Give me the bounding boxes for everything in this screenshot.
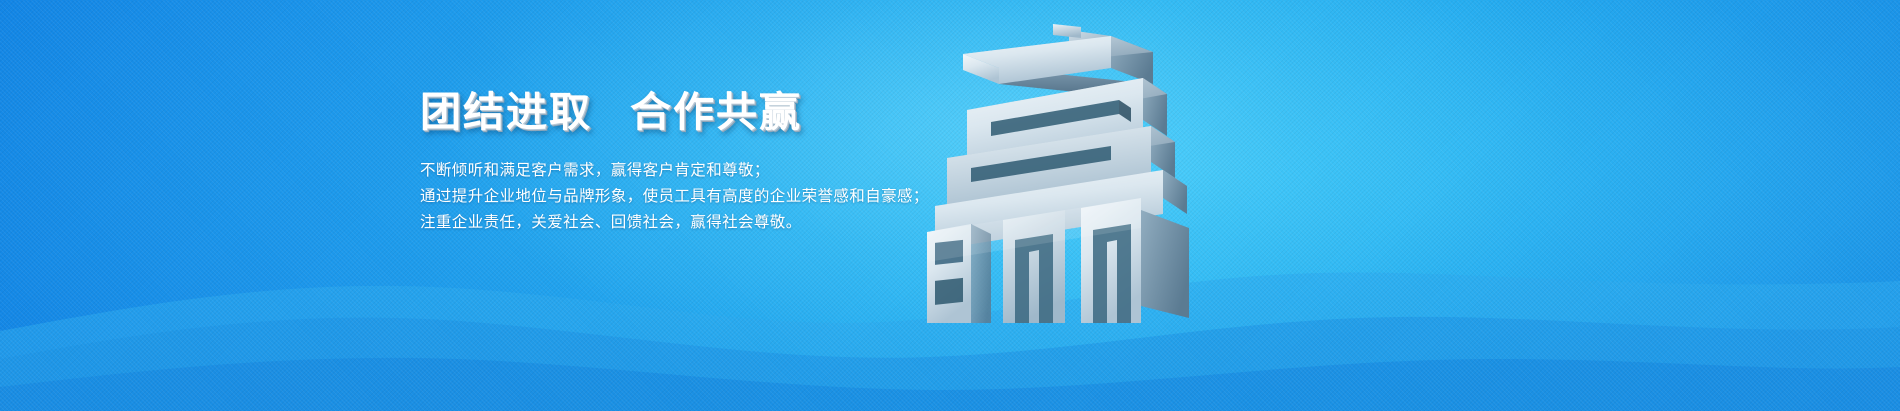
headline-left: 团结进取 [420, 92, 592, 133]
banner-sublines: 不断倾听和满足客户需求，赢得客户肯定和尊敬； 通过提升企业地位与品牌形象，使员工… [420, 158, 1040, 236]
banner-copy: 团结进取 合作共赢 不断倾听和满足客户需求，赢得客户肯定和尊敬； 通过提升企业地… [420, 92, 1040, 236]
subline-3: 注重企业责任，关爱社会、回馈社会，赢得社会尊敬。 [420, 210, 1040, 236]
banner-headline: 团结进取 合作共赢 [420, 92, 1040, 133]
subline-2: 通过提升企业地位与品牌形象，使员工具有高度的企业荣誉感和自豪感； [420, 184, 1040, 210]
headline-right: 合作共赢 [630, 92, 802, 133]
subline-1: 不断倾听和满足客户需求，赢得客户肯定和尊敬； [420, 158, 1040, 184]
promo-banner: 团结进取 合作共赢 不断倾听和满足客户需求，赢得客户肯定和尊敬； 通过提升企业地… [0, 0, 1900, 411]
